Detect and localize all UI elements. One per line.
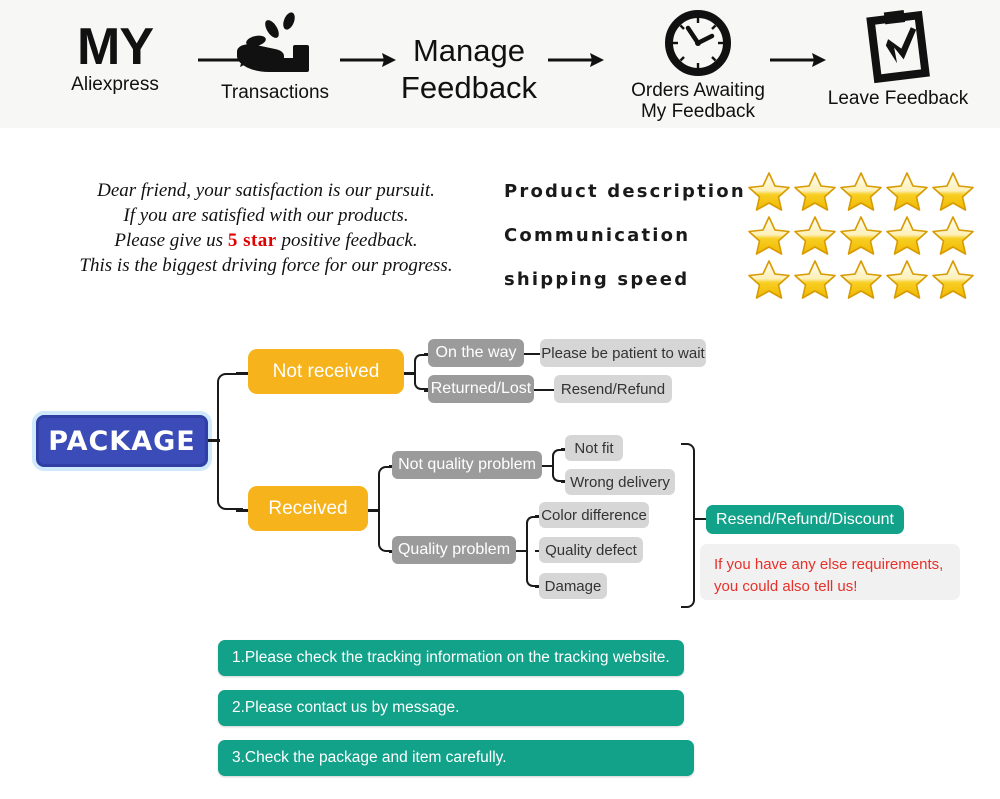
- flow-node-damage[interactable]: Damage: [539, 573, 607, 599]
- flow-note-line-1: If you have any else requirements,: [714, 554, 948, 576]
- header-step-leave-feedback: Leave Feedback: [808, 8, 988, 109]
- flow-connector-returned-lost-result: [534, 389, 556, 392]
- tip-item-2[interactable]: 2.Please contact us by message.: [218, 690, 684, 726]
- star-icon: [886, 171, 928, 211]
- rating-stars-communication: [748, 215, 974, 255]
- ratings-block: Product description Communication shippi…: [504, 170, 974, 302]
- testimonial-line-2: If you are satisfied with our products.: [36, 203, 496, 228]
- flow-node-on-the-way[interactable]: On the way: [428, 339, 524, 367]
- rating-row-shipping-speed: shipping speed: [504, 258, 974, 300]
- star-icon: [748, 215, 790, 255]
- header-step-label-my-feedback: My Feedback: [608, 101, 788, 122]
- header-step-label-orders-awaiting: Orders Awaiting: [608, 80, 788, 101]
- rating-label: Product description: [504, 181, 748, 202]
- flow-note-extra-requirements: If you have any else requirements, you c…: [700, 544, 960, 600]
- flow-connector-outcome-stub: [693, 518, 707, 521]
- star-icon: [932, 171, 974, 211]
- rating-stars-shipping-speed: [748, 259, 974, 299]
- rating-row-communication: Communication: [504, 214, 974, 256]
- flow-node-resend-refund-discount[interactable]: Resend/Refund/Discount: [706, 505, 904, 534]
- flow-node-received[interactable]: Received: [248, 486, 368, 531]
- header-steps-band: MY Aliexpress Transactions: [0, 0, 1000, 128]
- clipboard-check-icon: [861, 8, 935, 84]
- testimonial-line-4: This is the biggest driving force for ou…: [36, 253, 496, 278]
- tip-item-3[interactable]: 3.Check the package and item carefully.: [218, 740, 694, 776]
- star-icon: [840, 215, 882, 255]
- header-step-label-transactions: Transactions: [196, 82, 354, 104]
- flow-node-returned-lost[interactable]: Returned/Lost: [428, 375, 534, 403]
- star-icon: [794, 259, 836, 299]
- flow-node-package[interactable]: PACKAGE: [36, 415, 208, 467]
- flow-connector-outcome-bracket: [681, 443, 695, 608]
- testimonial-line-3-post: positive feedback.: [277, 230, 418, 251]
- star-icon: [794, 215, 836, 255]
- flow-node-wrong-delivery[interactable]: Wrong delivery: [565, 469, 675, 495]
- arrow-right-icon: [548, 48, 604, 72]
- header-step-label-leave-feedback: Leave Feedback: [808, 88, 988, 109]
- promo-banner: MY Aliexpress Transactions: [0, 0, 1000, 799]
- rating-label: shipping speed: [504, 269, 748, 290]
- flow-connector-not-quality-bracket: [552, 449, 566, 482]
- flow-note-line-2: you could also tell us!: [714, 576, 948, 598]
- star-icon: [748, 259, 790, 299]
- rating-stars-product-description: [748, 171, 974, 211]
- testimonial-highlight-5-star: 5 star: [228, 230, 277, 251]
- flow-node-quality-defect[interactable]: Quality defect: [539, 537, 643, 563]
- clock-icon: [662, 8, 734, 78]
- flow-node-not-received[interactable]: Not received: [248, 349, 404, 394]
- testimonial-block: Dear friend, your satisfaction is our pu…: [36, 178, 496, 278]
- testimonial-line-3-pre: Please give us: [114, 230, 227, 251]
- rating-label: Communication: [504, 225, 748, 246]
- star-icon: [840, 259, 882, 299]
- flow-node-resend-refund[interactable]: Resend/Refund: [554, 375, 672, 403]
- flow-node-not-fit[interactable]: Not fit: [565, 435, 623, 461]
- star-icon: [932, 215, 974, 255]
- header-step-label-manage: Manage: [380, 32, 558, 69]
- my-text-logo: MY: [30, 22, 200, 72]
- flow-connector-root-bracket: [217, 373, 243, 510]
- star-icon: [794, 171, 836, 211]
- header-step-transactions: Transactions: [196, 12, 354, 104]
- flow-node-not-quality-problem[interactable]: Not quality problem: [392, 451, 542, 479]
- testimonial-line-3: Please give us 5 star positive feedback.: [36, 228, 496, 253]
- header-step-label-feedback: Feedback: [380, 69, 558, 106]
- header-step-orders-awaiting: Orders Awaiting My Feedback: [608, 8, 788, 122]
- star-icon: [748, 171, 790, 211]
- tips-list: 1.Please check the tracking information …: [218, 640, 694, 790]
- flow-node-quality-problem[interactable]: Quality problem: [392, 536, 516, 564]
- testimonial-line-1: Dear friend, your satisfaction is our pu…: [36, 178, 496, 203]
- header-step-my-aliexpress: MY Aliexpress: [30, 22, 200, 96]
- header-step-manage-feedback: Manage Feedback: [380, 32, 558, 106]
- flow-node-please-be-patient[interactable]: Please be patient to wait: [540, 339, 706, 367]
- tip-item-1[interactable]: 1.Please check the tracking information …: [218, 640, 684, 676]
- hand-with-coins-icon: [229, 12, 321, 74]
- flow-node-color-difference[interactable]: Color difference: [539, 502, 649, 528]
- header-step-label-aliexpress: Aliexpress: [30, 74, 200, 96]
- package-flowchart: PACKAGE Not received On the way Please b…: [0, 320, 1000, 620]
- rating-row-product-description: Product description: [504, 170, 974, 212]
- star-icon: [840, 171, 882, 211]
- star-icon: [932, 259, 974, 299]
- star-icon: [886, 259, 928, 299]
- star-icon: [886, 215, 928, 255]
